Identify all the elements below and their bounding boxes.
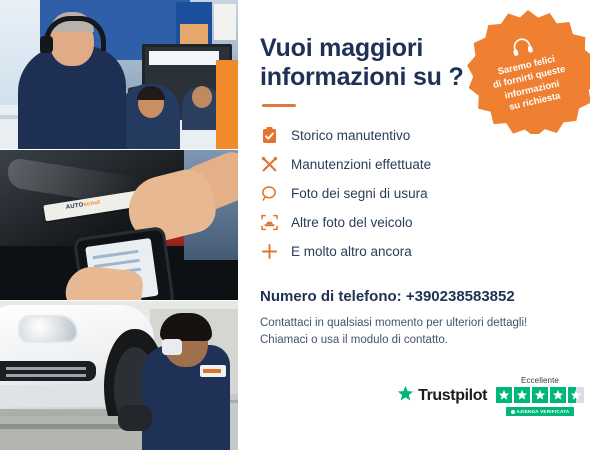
- poster-shape: [176, 2, 212, 48]
- headlight-shape: [18, 315, 78, 343]
- list-item-label: E molto altro ancora: [291, 244, 412, 259]
- call-center-operators-photo: [0, 0, 238, 149]
- list-item: Foto dei segni di usura: [260, 179, 580, 208]
- vehicle-inspection-photo: AUTOscout: [0, 149, 238, 299]
- car-scan-frame-icon: [260, 214, 278, 232]
- list-item-label: Altre foto del veicolo: [291, 215, 413, 230]
- list-item-label: Foto dei segni di usura: [291, 186, 428, 201]
- list-item: Manutenzioni effettuate: [260, 150, 580, 179]
- trustpilot-rating[interactable]: Trustpilot Eccellente: [397, 376, 584, 416]
- uniform-logo-shape: [200, 365, 226, 377]
- headline-line-2: informazioni su ?: [260, 63, 464, 91]
- mechanic-glove-shape: [118, 405, 152, 431]
- strip-logo: AUTOscout: [66, 200, 101, 211]
- phone-number-line: Numero di telefono: +390238583852: [260, 288, 580, 305]
- tools-cross-icon: [260, 156, 278, 174]
- star-filled-icon: [532, 387, 548, 403]
- mechanic-wheel-service-photo: [0, 300, 238, 450]
- verified-label: AZIENDA VERIFICATA: [517, 409, 570, 414]
- title-accent-rule: [262, 104, 296, 107]
- list-item-label: Manutenzioni effettuate: [291, 157, 431, 172]
- feature-list: Storico manutentivo Manutenzi: [260, 121, 580, 266]
- headset-earcup-shape: [40, 36, 53, 53]
- contact-line-2: Chiamaci o usa il modulo di contatto.: [260, 334, 448, 346]
- orange-object-shape: [216, 60, 238, 149]
- magnifier-icon: [260, 185, 278, 203]
- star-filled-icon: [496, 387, 512, 403]
- photo-collage: AUTOscout: [0, 0, 238, 450]
- trustpilot-star-icon: [397, 385, 414, 407]
- phone-label: Numero di telefono:: [260, 288, 402, 305]
- background-person-head-shape: [192, 86, 212, 108]
- trustpilot-score-block: Eccellente: [496, 376, 584, 416]
- trustpilot-rating-label: Eccellente: [521, 376, 559, 385]
- verified-check-icon: [511, 410, 515, 414]
- plus-icon: [260, 243, 278, 261]
- star-filled-icon: [514, 387, 530, 403]
- page-title: Vuoi maggiori informazioni su ?: [260, 34, 475, 92]
- headline-line-1: Vuoi maggiori: [260, 34, 423, 62]
- star-half-icon: [568, 387, 584, 403]
- front-bumper-shape: [0, 385, 120, 407]
- contact-line-1: Contattaci in qualsiasi momento per ulte…: [260, 317, 527, 329]
- clipboard-check-icon: [260, 127, 278, 145]
- grille-shape: [0, 361, 96, 381]
- list-item-label: Storico manutentivo: [291, 128, 410, 143]
- paper-shape: [214, 4, 236, 40]
- list-item: Altre foto del veicolo: [260, 208, 580, 237]
- mechanic-face-mask-shape: [162, 339, 182, 355]
- phone-number[interactable]: +390238583852: [406, 288, 515, 305]
- contact-instructions: Contattaci in qualsiasi momento per ulte…: [260, 315, 580, 350]
- list-item: E molto altro ancora: [260, 237, 580, 266]
- headset-band-shape: [44, 16, 106, 51]
- star-filled-icon: [550, 387, 566, 403]
- trustpilot-wordmark: Trustpilot: [418, 387, 487, 405]
- content-panel: Vuoi maggiori informazioni su ? Storico …: [238, 0, 600, 450]
- verified-company-badge: AZIENDA VERIFICATA: [506, 407, 575, 416]
- trustpilot-stars: [496, 387, 584, 403]
- promo-banner: AUTOscout Vu: [0, 0, 600, 450]
- trustpilot-logo: Trustpilot: [397, 385, 487, 407]
- info-on-request-badge: Saremo felici di fornirti queste informa…: [466, 10, 590, 134]
